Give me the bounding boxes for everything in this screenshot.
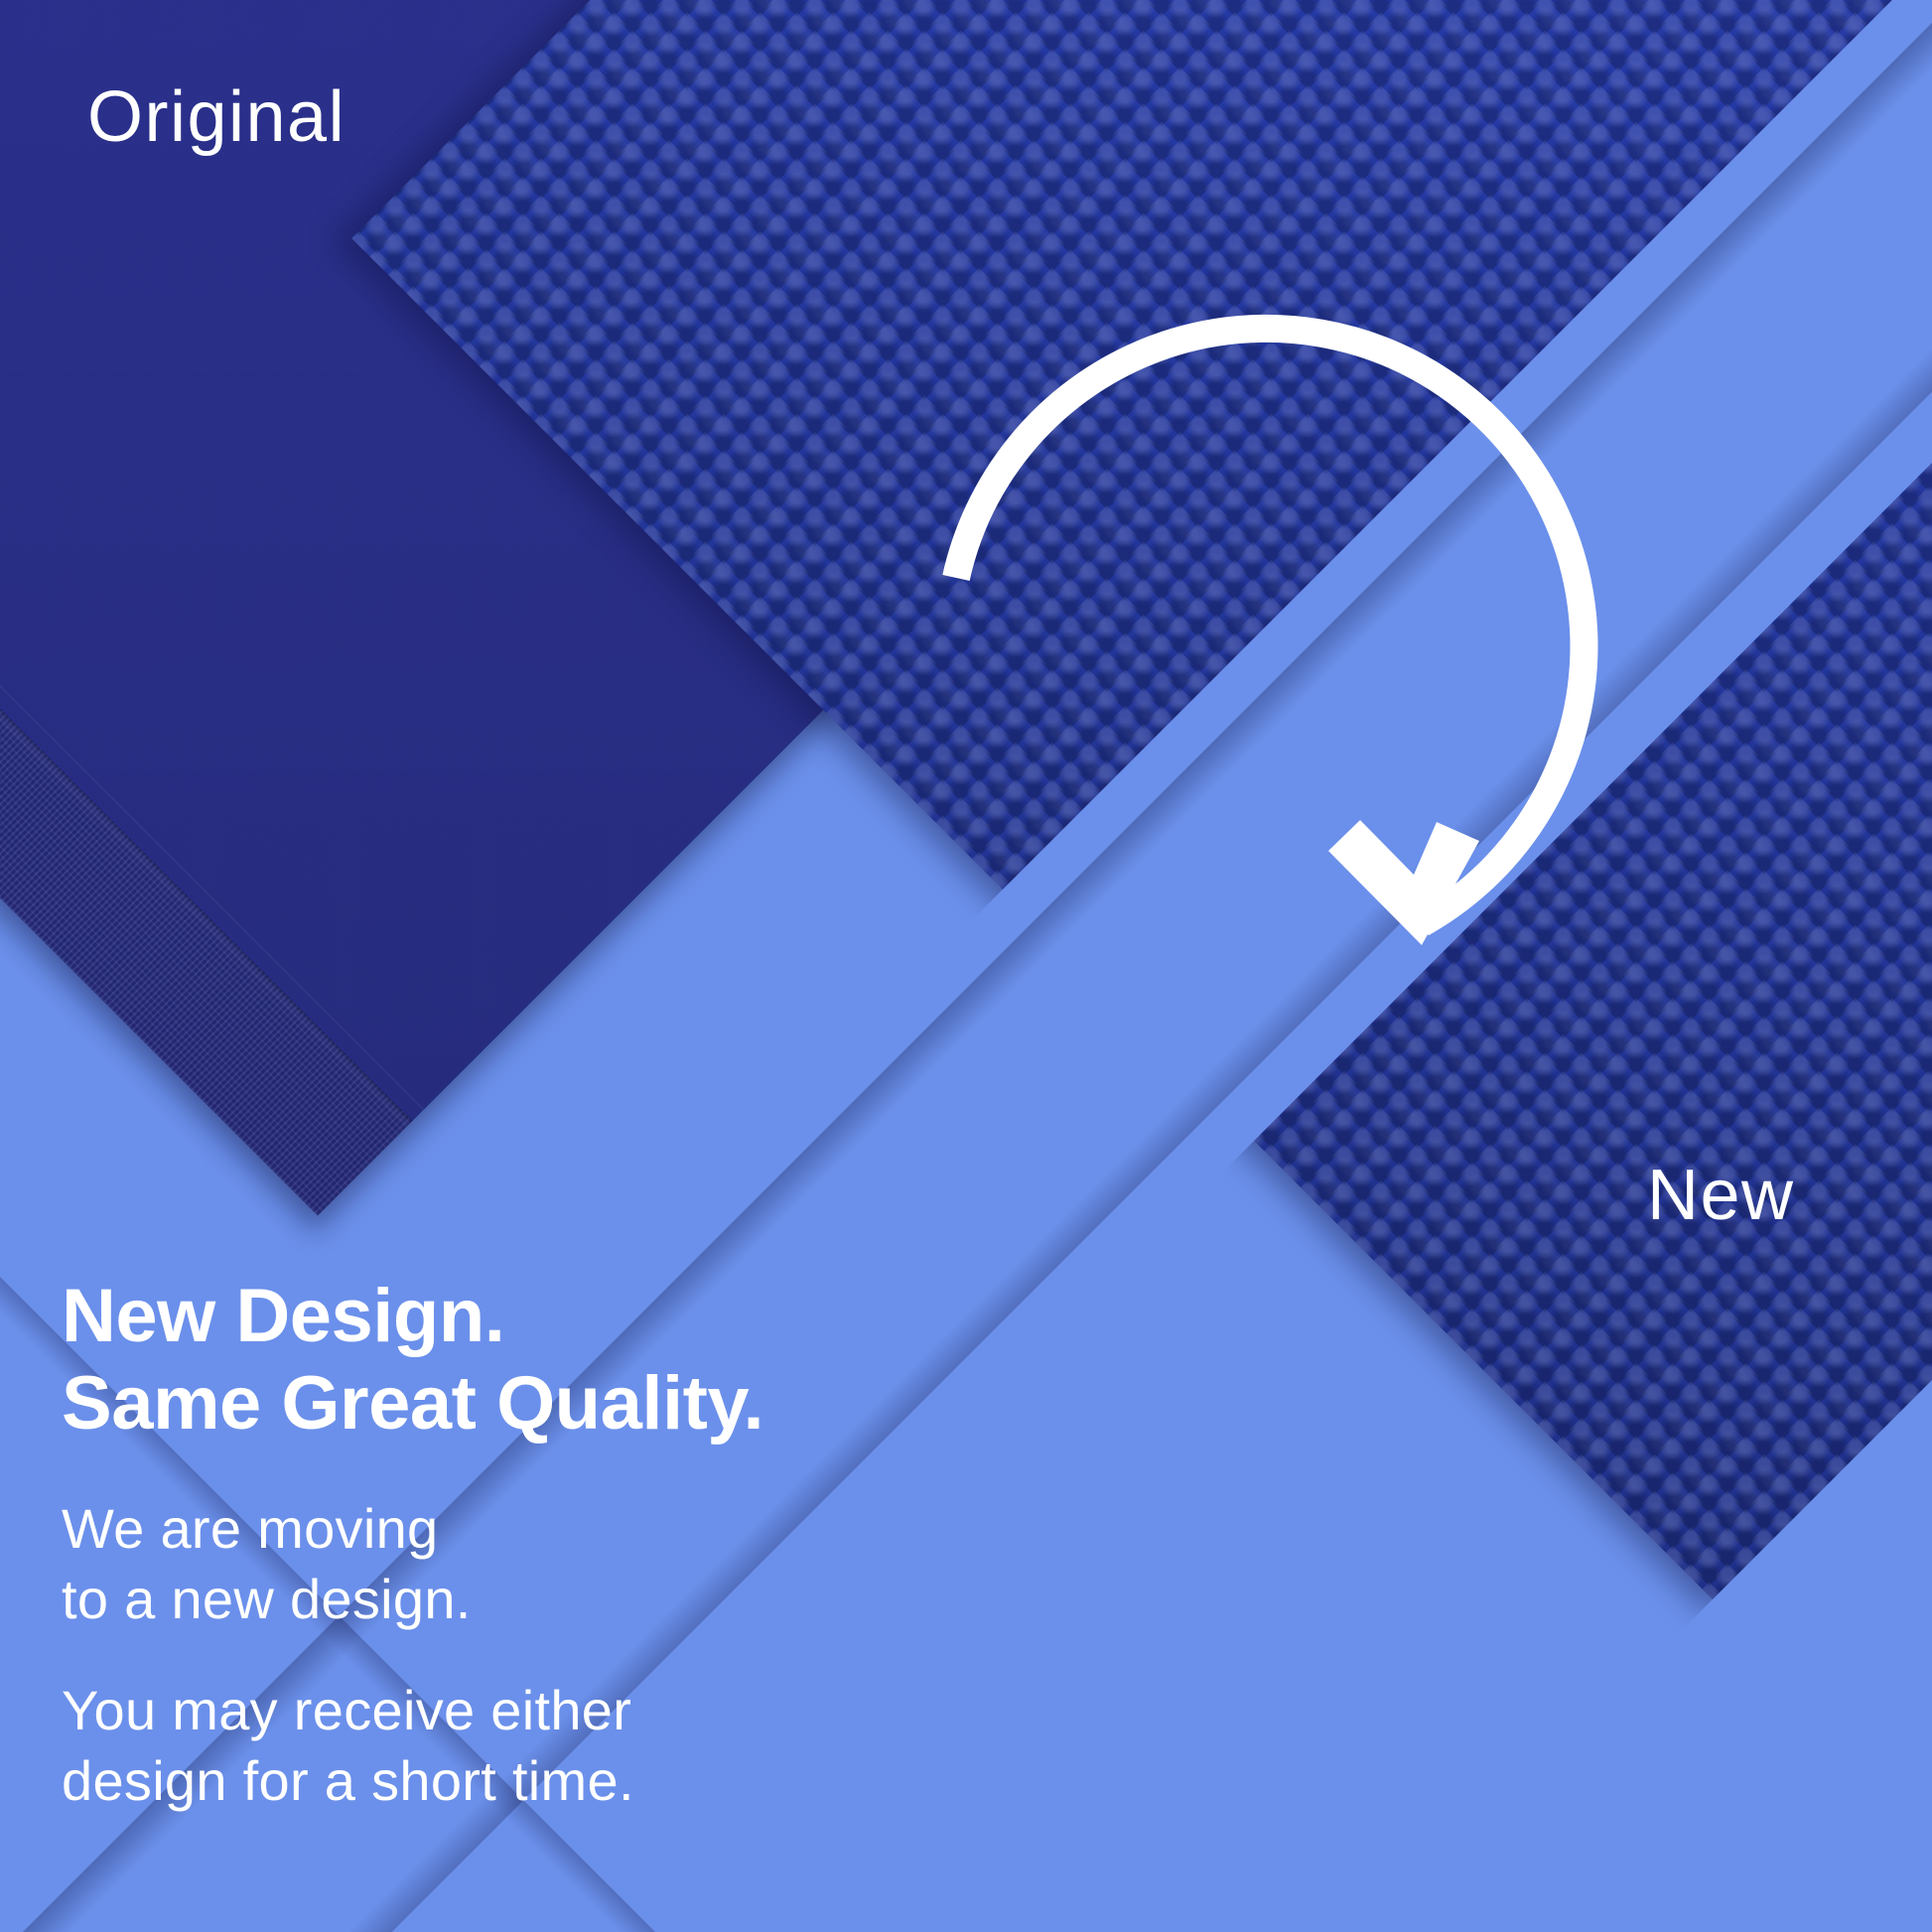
body-paragraph-2: You may receive either design for a shor… xyxy=(62,1675,1104,1816)
headline-line-2: Same Great Quality. xyxy=(62,1360,1104,1448)
body-paragraph-1-line-1: We are moving xyxy=(62,1493,1104,1564)
body-paragraph-1: We are moving to a new design. xyxy=(62,1493,1104,1634)
copy-block: New Design. Same Great Quality. We are m… xyxy=(62,1273,1104,1816)
headline-line-1: New Design. xyxy=(62,1273,1104,1360)
new-label: New xyxy=(1647,1160,1795,1231)
product-announcement-graphic: Original New New Design. Same Great Qual… xyxy=(0,0,1932,1932)
headline: New Design. Same Great Quality. xyxy=(62,1273,1104,1448)
body-paragraph-1-line-2: to a new design. xyxy=(62,1564,1104,1634)
body-paragraph-2-line-2: design for a short time. xyxy=(62,1745,1104,1816)
body-paragraph-2-line-1: You may receive either xyxy=(62,1675,1104,1745)
original-label: Original xyxy=(87,81,345,153)
